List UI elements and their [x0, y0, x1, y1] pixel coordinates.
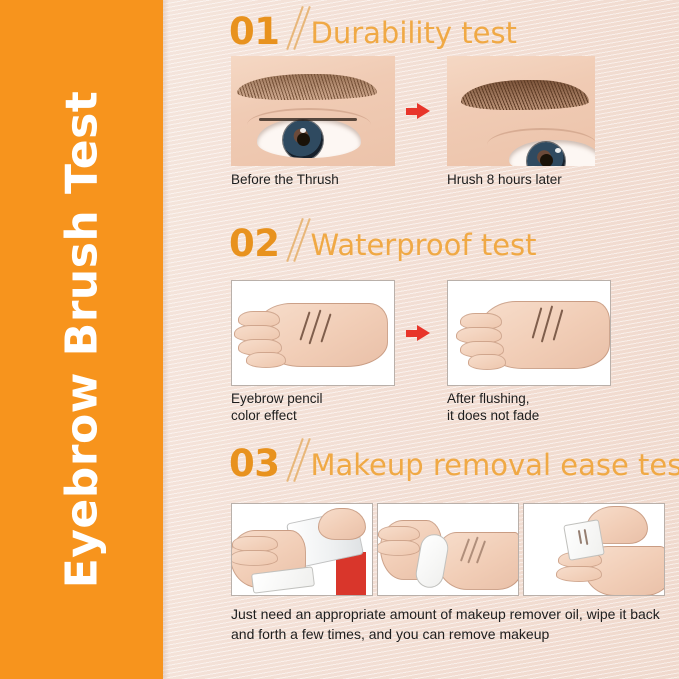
eye-before-photo [231, 56, 395, 166]
section-03-number: 03 [229, 445, 280, 482]
slash-divider-icon [283, 8, 309, 50]
hand-swatch-art [232, 281, 394, 385]
show-pad-art [524, 504, 664, 595]
banner-edge-shadow [163, 0, 169, 679]
eye-before-art [231, 56, 395, 166]
pour-remover-photo [231, 503, 373, 596]
slash-divider-icon [283, 220, 309, 262]
banner-title: Eyebrow Brush Test [56, 91, 107, 589]
arrow-right-icon [406, 103, 430, 119]
pour-remover-art [232, 504, 372, 595]
section-01-header: 01 Durability test [229, 8, 517, 50]
vertical-title-banner: Eyebrow Brush Test [0, 0, 163, 679]
hand-after-rinse-caption: After flushing, it does not fade [447, 391, 539, 425]
wipe-swatch-art [378, 504, 518, 595]
infographic-page: Eyebrow Brush Test 01 Durability test [0, 0, 679, 679]
wipe-swatch-photo [377, 503, 519, 596]
arrow-right-icon [406, 325, 430, 341]
eye-after-art [447, 56, 595, 166]
eye-after-caption: Hrush 8 hours later [447, 172, 562, 189]
hand-swatch-caption: Eyebrow pencil color effect [231, 391, 323, 425]
section-01-title: Durability test [311, 19, 517, 50]
show-pad-photo [523, 503, 665, 596]
section-02-title: Waterproof test [311, 231, 537, 262]
section-01-number: 01 [229, 13, 280, 50]
makeup-removal-caption: Just need an appropriate amount of makeu… [231, 604, 671, 645]
hand-swatch-photo [231, 280, 395, 386]
section-02-number: 02 [229, 225, 280, 262]
section-03-title: Makeup removal ease test [311, 451, 679, 482]
hand-after-rinse-photo [447, 280, 611, 386]
eye-before-caption: Before the Thrush [231, 172, 339, 189]
section-02-header: 02 Waterproof test [229, 220, 537, 262]
section-03-header: 03 Makeup removal ease test [229, 440, 679, 482]
hand-after-rinse-art [448, 281, 610, 385]
slash-divider-icon [283, 440, 309, 482]
eye-after-photo [447, 56, 595, 166]
content-column: 01 Durability test [163, 0, 679, 679]
